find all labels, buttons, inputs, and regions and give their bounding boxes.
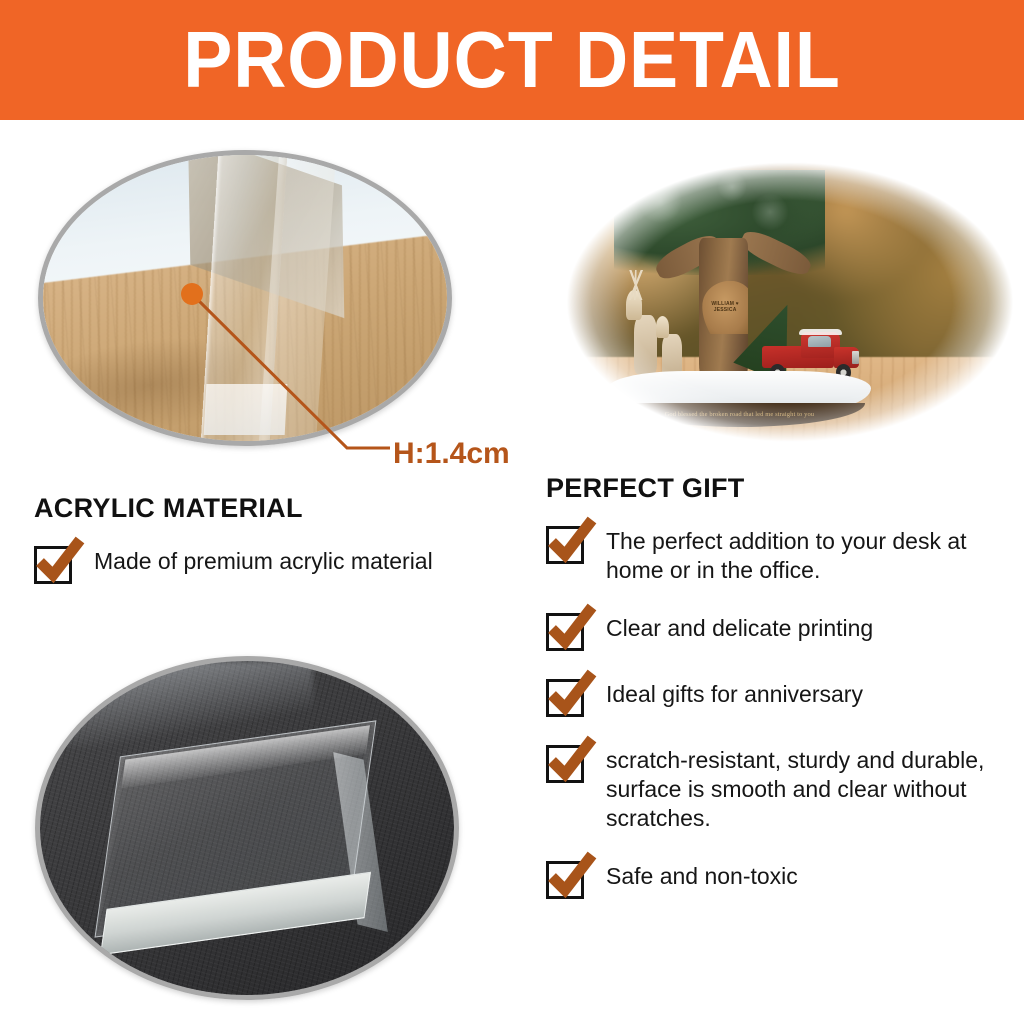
list-item: Ideal gifts for anniversary (546, 677, 1008, 717)
checkmark-icon (544, 667, 600, 723)
checkbox-checked-icon[interactable] (546, 613, 584, 651)
list-item-label: Clear and delicate printing (606, 611, 873, 643)
thickness-label: H:1.4cm (393, 438, 510, 470)
list-item: The perfect addition to your desk at hom… (546, 524, 1008, 585)
truck-grille (852, 351, 859, 364)
section-perfect-gift: PERFECT GIFT The perfect addition to you… (546, 472, 1008, 899)
list-item: scratch-resistant, sturdy and durable, s… (546, 743, 1008, 833)
deer-buck (634, 315, 657, 373)
checkbox-checked-icon[interactable] (546, 526, 584, 564)
header-banner: PRODUCT DETAIL (0, 0, 1024, 120)
list-item-label: The perfect addition to your desk at hom… (606, 524, 1008, 585)
figurine-assembly: WILLIAM ♥ JESSICA God blessed the broken… (597, 170, 882, 435)
heart-name-line-2: JESSICA (714, 307, 737, 313)
section-acrylic-material: ACRYLIC MATERIAL Made of premium acrylic… (34, 492, 514, 584)
section-title-acrylic-material: ACRYLIC MATERIAL (34, 492, 514, 524)
list-item: Made of premium acrylic material (34, 544, 514, 584)
figurine-plinth: God blessed the broken road that led me … (614, 403, 865, 427)
product-detail-page: PRODUCT DETAIL H:1.4cm WILLIAM ♥ JESSICA (0, 0, 1024, 1024)
thickness-callout: H:1.4cm (150, 260, 530, 480)
truck-snow-cap (799, 329, 842, 334)
checkmark-icon (544, 849, 600, 905)
photo-figurine: WILLIAM ♥ JESSICA God blessed the broken… (560, 158, 1020, 446)
checkbox-checked-icon[interactable] (34, 546, 72, 584)
section-title-perfect-gift: PERFECT GIFT (546, 472, 1008, 504)
list-item-label: Ideal gifts for anniversary (606, 677, 863, 709)
list-item: Clear and delicate printing (546, 611, 1008, 651)
list-item-label: scratch-resistant, sturdy and durable, s… (606, 743, 1008, 833)
plinth-inscription: God blessed the broken road that led me … (665, 411, 815, 418)
checkbox-checked-icon[interactable] (546, 745, 584, 783)
list-item-label: Safe and non-toxic (606, 859, 798, 891)
checkmark-icon (544, 514, 600, 570)
callout-anchor-dot (181, 283, 203, 305)
checkmark-icon (32, 534, 88, 590)
list-item: Safe and non-toxic (546, 859, 1008, 899)
checkbox-checked-icon[interactable] (546, 861, 584, 899)
list-item-label: Made of premium acrylic material (94, 544, 433, 576)
checkmark-icon (544, 601, 600, 657)
photo-acrylic-block (35, 656, 459, 1000)
checkbox-checked-icon[interactable] (546, 679, 584, 717)
checkmark-icon (544, 733, 600, 789)
page-title: PRODUCT DETAIL (41, 14, 983, 106)
truck-window (808, 336, 831, 347)
